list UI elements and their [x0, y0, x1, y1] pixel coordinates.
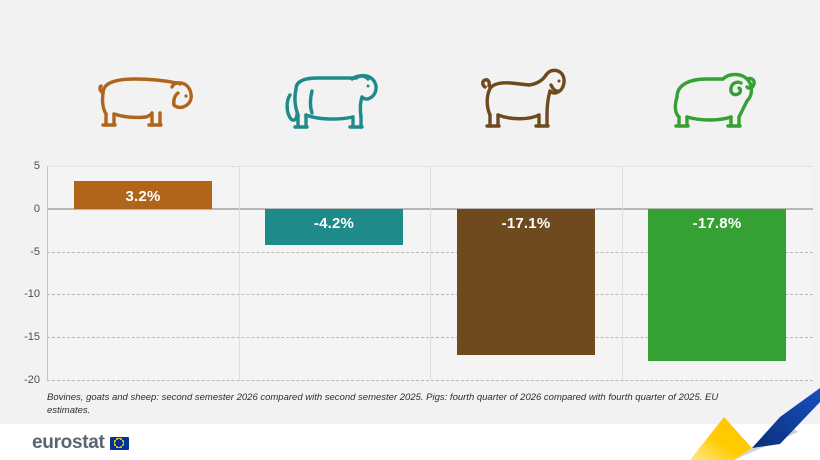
- y-tick-label: -15: [0, 331, 40, 343]
- bar-sheep[interactable]: -17.8%: [648, 209, 786, 361]
- eurostat-logo: eurostat: [32, 432, 129, 454]
- category-divider: [430, 166, 431, 380]
- brand-chevron: [690, 388, 820, 460]
- bar-pigs[interactable]: 3.2%: [74, 181, 212, 208]
- category-divider: [239, 166, 240, 380]
- bar-goats[interactable]: -17.1%: [457, 209, 595, 355]
- eu-flag-icon: [110, 437, 129, 450]
- y-tick-label: -20: [0, 374, 40, 386]
- bar-value-label: 3.2%: [74, 188, 212, 205]
- bar-value-label: -4.2%: [265, 215, 403, 232]
- chart-page: 50-5-10-15-20 3.2%-4.2%-17.1%-17.8% Bovi…: [0, 0, 820, 460]
- footnote: Bovines, goats and sheep: second semeste…: [47, 391, 737, 418]
- bar-value-label: -17.1%: [457, 215, 595, 232]
- goat-icon: [473, 65, 573, 135]
- y-tick-label: 0: [0, 203, 40, 215]
- gridline: [47, 380, 813, 381]
- pig-icon: [93, 67, 197, 133]
- plot-area: 3.2%-4.2%-17.1%-17.8%: [47, 166, 813, 380]
- bar-bovines[interactable]: -4.2%: [265, 209, 403, 245]
- sheep-icon: [663, 65, 763, 135]
- icon-cell-pigs: [47, 55, 242, 145]
- y-tick-label: 5: [0, 160, 40, 172]
- bovine-icon: [282, 65, 386, 135]
- y-axis-line: [47, 166, 48, 380]
- category-divider: [622, 166, 623, 380]
- y-tick-label: -10: [0, 288, 40, 300]
- icon-cell-goats: [425, 55, 620, 145]
- icon-cell-bovines: [236, 55, 431, 145]
- bar-value-label: -17.8%: [648, 215, 786, 232]
- y-axis-labels: 50-5-10-15-20: [0, 166, 40, 380]
- eurostat-wordmark: eurostat: [32, 432, 105, 454]
- icon-cell-sheep: [615, 55, 810, 145]
- y-tick-label: -5: [0, 246, 40, 258]
- animal-icon-row: [0, 55, 820, 145]
